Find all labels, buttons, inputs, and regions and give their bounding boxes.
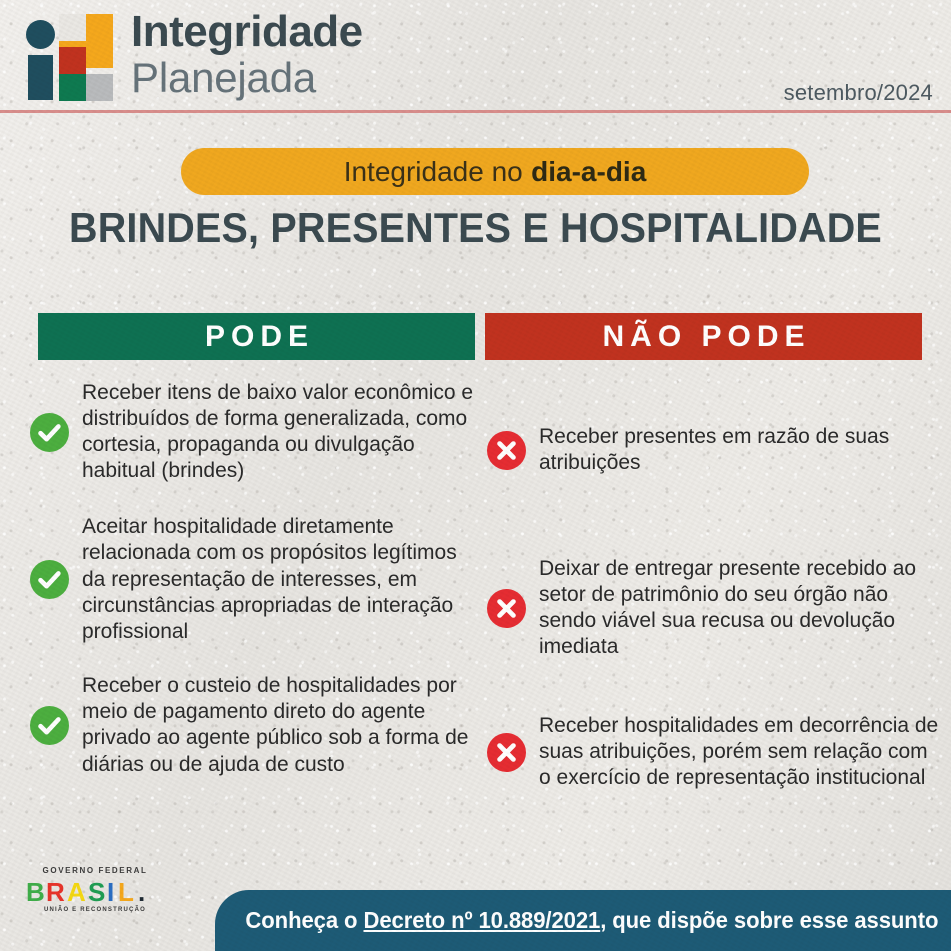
logo-grey-block (86, 74, 113, 101)
logo-green-block (59, 74, 86, 101)
check-circle-icon (30, 413, 69, 452)
gov-logo-wordmark: B R A S I L . (26, 877, 158, 907)
list-item-text: Receber presentes em razão de suas atrib… (539, 424, 939, 477)
list-item: Receber presentes em razão de suas atrib… (487, 390, 939, 510)
list-item-text: Aceitar hospitalidade diretamente relaci… (82, 514, 482, 645)
list-item-text: Receber hospitalidades em decorrência de… (539, 713, 939, 792)
gov-logo-bottom-label: UNIÃO E RECONSTRUÇÃO (28, 907, 162, 913)
issue-date: setembro/2024 (784, 80, 933, 106)
check-circle-icon (30, 560, 69, 599)
brand-name-secondary: Planejada (131, 56, 363, 100)
footer-suffix-label: , que dispõe sobre esse assunto (600, 907, 938, 933)
logo-yellow-notch (59, 14, 86, 41)
column-pode-list: Receber itens de baixo valor econômico e… (30, 372, 482, 803)
list-item-text: Receber itens de baixo valor econômico e… (82, 380, 482, 485)
x-circle-icon (487, 733, 526, 772)
footer-prefix-label: Conheça o (246, 907, 364, 933)
column-header-nao-pode: NÃO PODE (485, 313, 922, 360)
pill-prefix-label: Integridade no (344, 156, 523, 188)
logo-person-head-shape (26, 20, 55, 49)
column-header-pode: PODE (38, 313, 475, 360)
brand-wordmark: Integridade Planejada (131, 8, 363, 100)
logo-person-body-shape (28, 55, 53, 100)
list-item: Deixar de entregar presente recebido ao … (487, 548, 939, 668)
list-item: Receber o custeio de hospitalidades por … (30, 665, 482, 785)
check-circle-icon (30, 706, 69, 745)
column-nao-pode-list: Receber presentes em razão de suas atrib… (487, 372, 939, 830)
footer-callout-text: Conheça o Decreto nº 10.889/2021, que di… (246, 907, 939, 934)
header-divider-rule (0, 110, 951, 113)
x-circle-icon (487, 589, 526, 628)
brand-lockup: Integridade Planejada (17, 8, 363, 100)
list-item-text: Receber o custeio de hospitalidades por … (82, 673, 482, 778)
section-pill-badge: Integridade no dia-a-dia (181, 148, 809, 195)
integridade-planejada-logo-icon (17, 8, 115, 100)
list-item: Receber hospitalidades em decorrência de… (487, 692, 939, 812)
infographic-page: Integridade Planejada setembro/2024 Inte… (0, 0, 951, 951)
gov-logo-top-label: GOVERNO FEDERAL (28, 866, 162, 875)
decreto-link[interactable]: Decreto nº 10.889/2021 (364, 907, 601, 933)
logo-red-block (59, 47, 86, 74)
footer-callout-bar: Conheça o Decreto nº 10.889/2021, que di… (215, 890, 951, 951)
list-item-text: Deixar de entregar presente recebido ao … (539, 556, 939, 661)
x-circle-icon (487, 431, 526, 470)
list-item: Aceitar hospitalidade diretamente relaci… (30, 514, 482, 645)
governo-federal-brasil-logo-icon: GOVERNO FEDERAL B R A S I L . UNIÃO E RE… (22, 866, 162, 922)
brand-name-primary: Integridade (131, 10, 363, 55)
page-header: Integridade Planejada setembro/2024 (0, 0, 951, 113)
list-item: Receber itens de baixo valor econômico e… (30, 372, 482, 492)
page-title: BRINDES, PRESENTES E HOSPITALIDADE (29, 204, 923, 252)
pill-emphasis-label: dia-a-dia (531, 156, 646, 188)
